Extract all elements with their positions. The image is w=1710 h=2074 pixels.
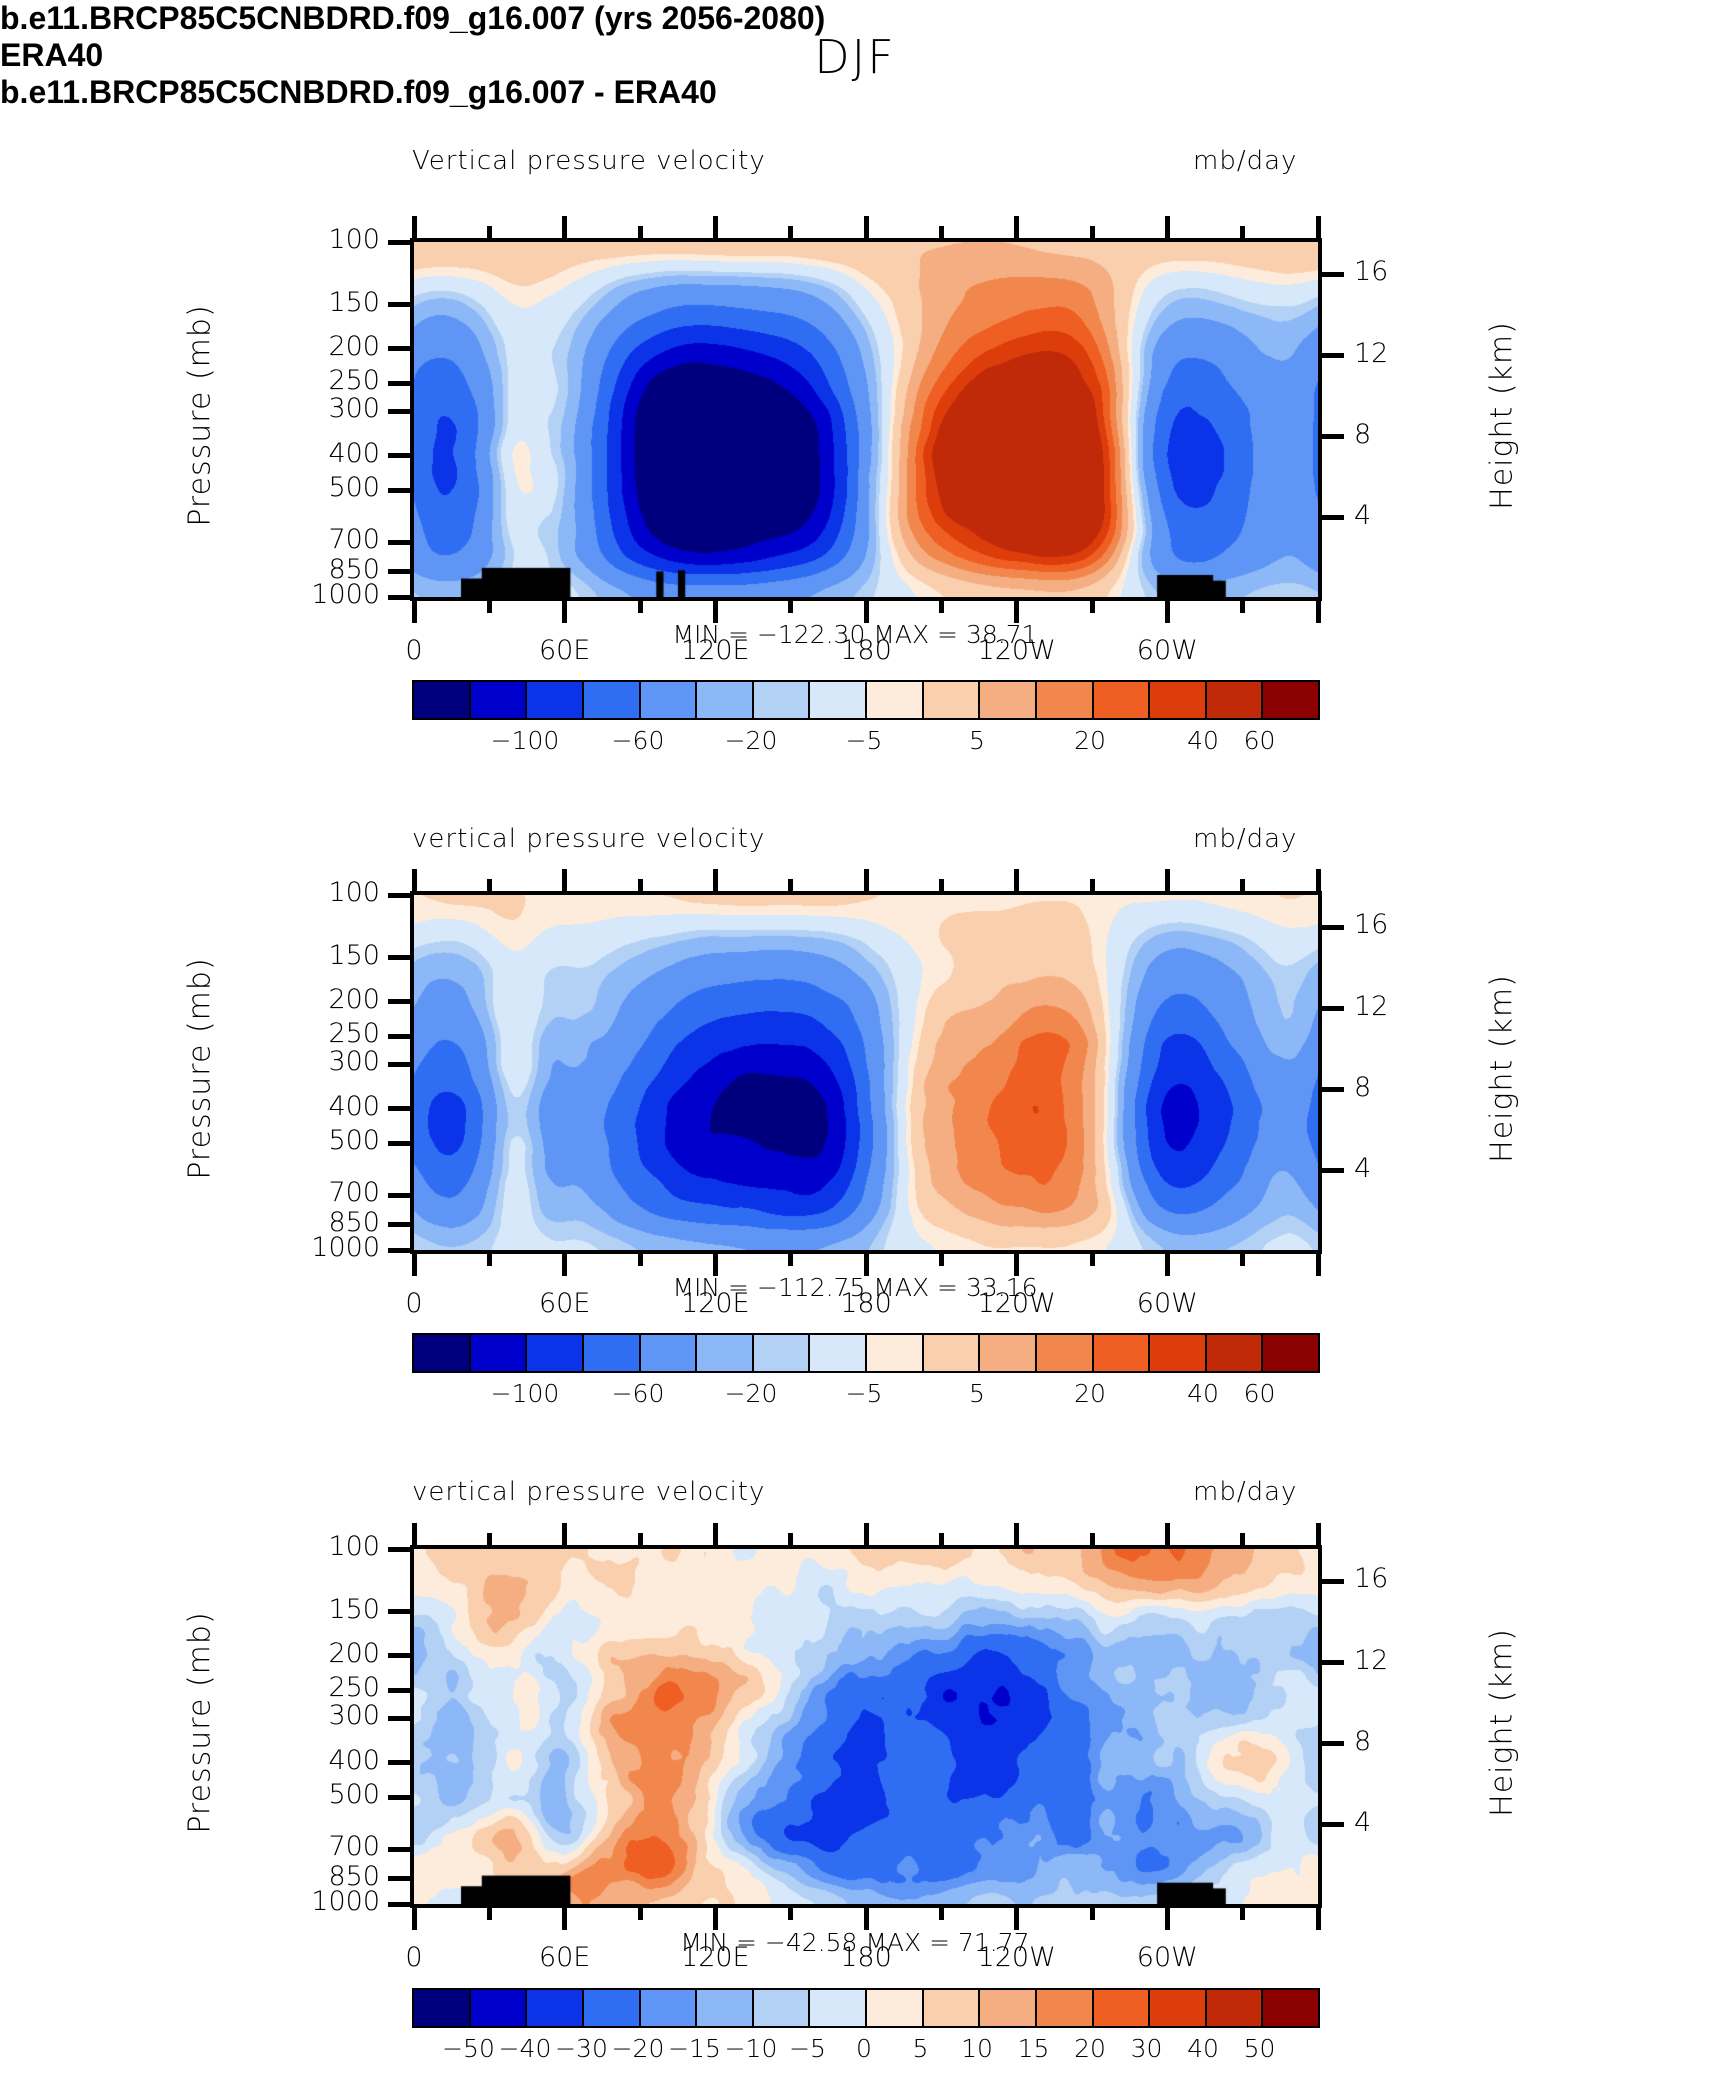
x-tick-mark-bottom <box>487 1908 492 1920</box>
x-tick-mark-bottom <box>487 1254 492 1266</box>
colorbar-cell <box>1037 682 1094 718</box>
colorbar-tick-label: 60 <box>1190 1379 1330 1408</box>
x-tick-mark-bottom <box>1240 601 1245 613</box>
colorbar-cell <box>471 1335 528 1371</box>
colorbar-cell <box>414 682 471 718</box>
y-tick-mark <box>388 409 410 414</box>
x-tick-mark-top <box>713 216 718 238</box>
colorbar-cell <box>980 682 1037 718</box>
y-tick-mark <box>388 1688 410 1693</box>
y-tick-mark <box>388 1062 410 1067</box>
x-tick-mark-bottom <box>1014 1254 1019 1276</box>
y-tick-mark <box>388 1034 410 1039</box>
y-tick-mark <box>388 1847 410 1852</box>
x-tick-mark-bottom <box>788 1254 793 1266</box>
x-tick-label: 120E <box>645 1942 785 1973</box>
y-right-tick-label: 4 <box>1354 500 1444 531</box>
y-tick-label: 150 <box>240 287 380 318</box>
x-tick-mark-bottom <box>1316 1908 1321 1930</box>
y-tick-mark <box>388 540 410 545</box>
colorbar-cell <box>1263 1335 1318 1371</box>
y-tick-label: 300 <box>240 393 380 424</box>
colorbar-cell <box>641 1990 698 2026</box>
x-tick-mark-top <box>713 1523 718 1545</box>
x-tick-label: 180 <box>796 1942 936 1973</box>
y-tick-label: 700 <box>240 1177 380 1208</box>
x-tick-mark-bottom <box>713 601 718 623</box>
y-right-tick-label: 12 <box>1354 1645 1444 1676</box>
x-tick-mark-top <box>1090 226 1095 238</box>
panel-obs-y-axis-label: Pressure (mb) <box>183 948 218 1188</box>
y-tick-mark <box>388 1141 410 1146</box>
y-tick-mark <box>388 893 410 898</box>
colorbar-cell <box>924 1990 981 2026</box>
x-tick-mark-bottom <box>1090 1908 1095 1920</box>
colorbar-cell <box>810 682 867 718</box>
x-tick-mark-top <box>1165 869 1170 891</box>
colorbar-cell <box>924 1335 981 1371</box>
x-tick-label: 120E <box>645 635 785 666</box>
colorbar-cell <box>697 1990 754 2026</box>
x-tick-mark-bottom <box>713 1908 718 1930</box>
x-tick-mark-bottom <box>638 601 643 613</box>
y-tick-label: 700 <box>240 524 380 555</box>
y-tick-mark <box>388 1876 410 1881</box>
y-tick-label: 1000 <box>240 579 380 610</box>
y-tick-mark <box>388 1547 410 1552</box>
y-right-tick-mark <box>1322 272 1344 277</box>
colorbar-cell <box>1263 682 1318 718</box>
y-right-tick-label: 12 <box>1354 991 1444 1022</box>
y-right-tick-label: 8 <box>1354 419 1444 450</box>
colorbar-cell <box>697 1335 754 1371</box>
colorbar-cell <box>754 1335 811 1371</box>
x-tick-mark-bottom <box>1316 601 1321 623</box>
panel-diff-plot-area <box>410 1545 1322 1908</box>
y-tick-label: 500 <box>240 1779 380 1810</box>
panel-obs-field-label: vertical pressure velocity <box>412 824 765 854</box>
y-tick-label: 200 <box>240 1638 380 1669</box>
x-tick-mark-bottom <box>1014 601 1019 623</box>
y-tick-label: 250 <box>240 365 380 396</box>
x-tick-mark-top <box>864 869 869 891</box>
panel-model-contour-canvas <box>414 242 1318 597</box>
x-tick-mark-bottom <box>412 1908 417 1930</box>
x-tick-mark-top <box>939 1533 944 1545</box>
x-tick-mark-top <box>939 879 944 891</box>
colorbar-cell <box>584 1335 641 1371</box>
y-right-tick-label: 4 <box>1354 1153 1444 1184</box>
x-tick-mark-top <box>412 216 417 238</box>
x-tick-label: 60W <box>1097 1942 1237 1973</box>
y-right-tick-mark <box>1322 1741 1344 1746</box>
colorbar-cell <box>584 1990 641 2026</box>
x-tick-mark-bottom <box>487 601 492 613</box>
colorbar-tick-label: 50 <box>1200 2034 1320 2063</box>
panel-model-colorbar <box>412 680 1320 720</box>
x-tick-mark-top <box>562 1523 567 1545</box>
y-tick-label: 300 <box>240 1046 380 1077</box>
colorbar-cell <box>641 1335 698 1371</box>
x-tick-mark-top <box>1014 216 1019 238</box>
colorbar-cell <box>527 1990 584 2026</box>
x-tick-mark-bottom <box>864 1908 869 1930</box>
x-tick-mark-bottom <box>638 1908 643 1920</box>
x-tick-mark-top <box>562 216 567 238</box>
panel-diff-contour-canvas <box>414 1549 1318 1904</box>
x-tick-mark-bottom <box>562 1908 567 1930</box>
x-tick-label: 0 <box>344 1942 484 1973</box>
panel-model-plot-area <box>410 238 1322 601</box>
x-tick-mark-bottom <box>1090 1254 1095 1266</box>
y-right-tick-label: 16 <box>1354 1563 1444 1594</box>
colorbar-cell <box>924 682 981 718</box>
colorbar-cell <box>641 682 698 718</box>
y-right-tick-mark <box>1322 1822 1344 1827</box>
x-tick-mark-top <box>1090 879 1095 891</box>
colorbar-tick-label: 60 <box>1190 726 1330 755</box>
y-right-tick-label: 16 <box>1354 909 1444 940</box>
y-tick-label: 200 <box>240 984 380 1015</box>
season-title: DJF <box>0 30 1710 84</box>
x-tick-mark-bottom <box>412 1254 417 1276</box>
x-tick-mark-top <box>487 879 492 891</box>
y-right-tick-mark <box>1322 1660 1344 1665</box>
x-tick-mark-top <box>1090 1533 1095 1545</box>
x-tick-mark-top <box>638 1533 643 1545</box>
y-tick-label: 100 <box>240 1531 380 1562</box>
colorbar-cell <box>1094 1990 1151 2026</box>
colorbar-cell <box>980 1335 1037 1371</box>
x-tick-mark-top <box>1014 869 1019 891</box>
colorbar-cell <box>1150 1335 1207 1371</box>
y-right-tick-mark <box>1322 1579 1344 1584</box>
colorbar-cell <box>414 1335 471 1371</box>
x-tick-label: 120W <box>947 1942 1087 1973</box>
x-tick-mark-top <box>1165 1523 1170 1545</box>
y-tick-mark <box>388 488 410 493</box>
x-tick-mark-bottom <box>562 601 567 623</box>
x-tick-mark-top <box>1316 1523 1321 1545</box>
x-tick-label: 120W <box>947 1288 1087 1319</box>
colorbar-cell <box>867 1990 924 2026</box>
x-tick-mark-top <box>864 216 869 238</box>
panel-model-field-label: Vertical pressure velocity <box>412 146 766 176</box>
y-tick-label: 700 <box>240 1831 380 1862</box>
x-tick-mark-bottom <box>864 601 869 623</box>
y-tick-mark <box>388 346 410 351</box>
colorbar-cell <box>471 682 528 718</box>
y-tick-mark <box>388 1106 410 1111</box>
x-tick-mark-bottom <box>1165 1908 1170 1930</box>
colorbar-cell <box>867 682 924 718</box>
colorbar-cell <box>527 1335 584 1371</box>
x-tick-mark-top <box>638 226 643 238</box>
panel-model-units: mb/day <box>1193 146 1297 176</box>
x-tick-mark-top <box>487 1533 492 1545</box>
colorbar-cell <box>1150 682 1207 718</box>
x-tick-label: 0 <box>344 635 484 666</box>
panel-obs-contour-canvas <box>414 895 1318 1250</box>
y-tick-mark <box>388 1609 410 1614</box>
x-tick-label: 180 <box>796 635 936 666</box>
y-tick-mark <box>388 453 410 458</box>
colorbar-cell <box>1037 1990 1094 2026</box>
y-tick-label: 400 <box>240 1091 380 1122</box>
y-tick-label: 500 <box>240 1125 380 1156</box>
x-tick-mark-top <box>1316 216 1321 238</box>
colorbar-cell <box>414 1990 471 2026</box>
y-tick-mark <box>388 999 410 1004</box>
x-tick-mark-bottom <box>1165 1254 1170 1276</box>
colorbar-cell <box>867 1335 924 1371</box>
y-right-tick-label: 16 <box>1354 256 1444 287</box>
colorbar-cell <box>1207 1990 1264 2026</box>
x-tick-label: 180 <box>796 1288 936 1319</box>
x-tick-label: 60W <box>1097 1288 1237 1319</box>
x-tick-mark-top <box>412 869 417 891</box>
y-tick-label: 150 <box>240 940 380 971</box>
colorbar-cell <box>697 682 754 718</box>
y-right-tick-mark <box>1322 353 1344 358</box>
x-tick-mark-bottom <box>638 1254 643 1266</box>
y-tick-label: 250 <box>240 1018 380 1049</box>
y-tick-mark <box>388 240 410 245</box>
y-tick-label: 150 <box>240 1594 380 1625</box>
panel-model-y-axis-label: Pressure (mb) <box>183 295 218 535</box>
x-tick-mark-top <box>1316 869 1321 891</box>
panel-diff-colorbar <box>412 1988 1320 2028</box>
x-tick-mark-bottom <box>1240 1254 1245 1266</box>
colorbar-cell <box>810 1990 867 2026</box>
x-tick-mark-bottom <box>939 1254 944 1266</box>
colorbar-cell <box>754 682 811 718</box>
x-tick-label: 60W <box>1097 635 1237 666</box>
panel-obs-plot-area <box>410 891 1322 1254</box>
x-tick-label: 60E <box>495 1942 635 1973</box>
x-tick-mark-bottom <box>713 1254 718 1276</box>
colorbar-cell <box>1094 1335 1151 1371</box>
y-right-tick-mark <box>1322 925 1344 930</box>
y-right-tick-mark <box>1322 434 1344 439</box>
colorbar-cell <box>1094 682 1151 718</box>
y-tick-label: 250 <box>240 1672 380 1703</box>
x-tick-mark-top <box>788 879 793 891</box>
colorbar-cell <box>1263 1990 1318 2026</box>
x-tick-mark-bottom <box>1316 1254 1321 1276</box>
y-tick-label: 400 <box>240 1745 380 1776</box>
y-tick-label: 400 <box>240 438 380 469</box>
colorbar-cell <box>1207 1335 1264 1371</box>
colorbar-cell <box>1207 682 1264 718</box>
x-tick-mark-top <box>939 226 944 238</box>
x-tick-mark-top <box>864 1523 869 1545</box>
x-tick-mark-bottom <box>939 601 944 613</box>
x-tick-mark-bottom <box>1090 601 1095 613</box>
x-tick-mark-bottom <box>562 1254 567 1276</box>
y-right-tick-mark <box>1322 1087 1344 1092</box>
colorbar-cell <box>1037 1335 1094 1371</box>
x-tick-mark-bottom <box>788 1908 793 1920</box>
y-right-tick-label: 8 <box>1354 1726 1444 1757</box>
x-tick-mark-top <box>638 879 643 891</box>
y-tick-mark <box>388 1760 410 1765</box>
x-tick-mark-top <box>788 226 793 238</box>
x-tick-label: 60E <box>495 635 635 666</box>
figure-root: DJF b.e11.BRCP85C5CNBDRD.f09_g16.007 (yr… <box>0 0 1710 2074</box>
x-tick-mark-bottom <box>864 1254 869 1276</box>
y-tick-mark <box>388 1795 410 1800</box>
y-tick-mark <box>388 302 410 307</box>
colorbar-cell <box>1150 1990 1207 2026</box>
x-tick-mark-bottom <box>939 1908 944 1920</box>
x-tick-mark-top <box>412 1523 417 1545</box>
y-tick-mark <box>388 1716 410 1721</box>
x-tick-mark-bottom <box>1014 1908 1019 1930</box>
x-tick-mark-top <box>1240 226 1245 238</box>
y-tick-mark <box>388 1193 410 1198</box>
panel-obs-units: mb/day <box>1193 824 1297 854</box>
x-tick-mark-top <box>788 1533 793 1545</box>
y-tick-mark <box>388 569 410 574</box>
y-tick-mark <box>388 1222 410 1227</box>
y-right-tick-label: 4 <box>1354 1807 1444 1838</box>
y-right-tick-mark <box>1322 1168 1344 1173</box>
y-tick-mark <box>388 1902 410 1907</box>
panel-diff-field-label: vertical pressure velocity <box>412 1477 765 1507</box>
y-right-tick-label: 12 <box>1354 338 1444 369</box>
colorbar-cell <box>527 682 584 718</box>
y-tick-label: 1000 <box>240 1886 380 1917</box>
y-tick-label: 1000 <box>240 1232 380 1263</box>
x-tick-mark-bottom <box>1240 1908 1245 1920</box>
y-tick-label: 500 <box>240 472 380 503</box>
y-tick-mark <box>388 1653 410 1658</box>
x-tick-mark-top <box>1240 879 1245 891</box>
y-tick-mark <box>388 1248 410 1253</box>
x-tick-label: 0 <box>344 1288 484 1319</box>
x-tick-label: 120W <box>947 635 1087 666</box>
y-tick-label: 300 <box>240 1700 380 1731</box>
x-tick-mark-top <box>562 869 567 891</box>
y-right-tick-mark <box>1322 515 1344 520</box>
colorbar-cell <box>471 1990 528 2026</box>
y-tick-mark <box>388 955 410 960</box>
x-tick-label: 60E <box>495 1288 635 1319</box>
y-tick-label: 100 <box>240 877 380 908</box>
panel-diff-units: mb/day <box>1193 1477 1297 1507</box>
x-tick-label: 120E <box>645 1288 785 1319</box>
colorbar-cell <box>584 682 641 718</box>
y-right-tick-mark <box>1322 1006 1344 1011</box>
colorbar-cell <box>810 1335 867 1371</box>
colorbar-cell <box>754 1990 811 2026</box>
x-tick-mark-bottom <box>412 601 417 623</box>
y-tick-label: 100 <box>240 224 380 255</box>
x-tick-mark-top <box>1240 1533 1245 1545</box>
panel-model-y-right-axis-label: Height (km) <box>1485 295 1520 535</box>
panel-diff-y-right-axis-label: Height (km) <box>1485 1602 1520 1842</box>
x-tick-mark-bottom <box>1165 601 1170 623</box>
x-tick-mark-top <box>487 226 492 238</box>
y-tick-mark <box>388 381 410 386</box>
panel-diff-y-axis-label: Pressure (mb) <box>183 1602 218 1842</box>
y-tick-mark <box>388 595 410 600</box>
x-tick-mark-bottom <box>788 601 793 613</box>
x-tick-mark-top <box>1014 1523 1019 1545</box>
x-tick-mark-top <box>1165 216 1170 238</box>
y-tick-label: 200 <box>240 331 380 362</box>
panel-obs-y-right-axis-label: Height (km) <box>1485 948 1520 1188</box>
panel-obs-colorbar <box>412 1333 1320 1373</box>
colorbar-cell <box>980 1990 1037 2026</box>
x-tick-mark-top <box>713 869 718 891</box>
y-right-tick-label: 8 <box>1354 1072 1444 1103</box>
